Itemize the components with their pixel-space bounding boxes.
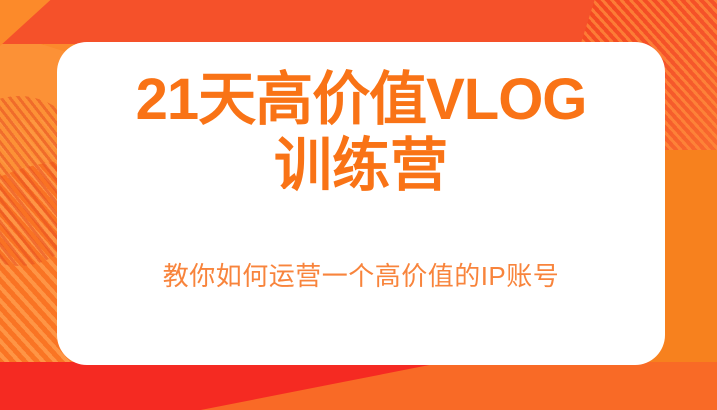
- content-card: 21天高价值VLOG 训练营 教你如何运营一个高价值的IP账号: [57, 42, 665, 365]
- poster-subtitle: 教你如何运营一个高价值的IP账号: [163, 256, 560, 293]
- poster-title-line-2: 训练营: [274, 135, 448, 198]
- poster-title-line-1: 21天高价值VLOG: [136, 70, 587, 131]
- promo-poster: 21天高价值VLOG 训练营 教你如何运营一个高价值的IP账号: [0, 0, 717, 410]
